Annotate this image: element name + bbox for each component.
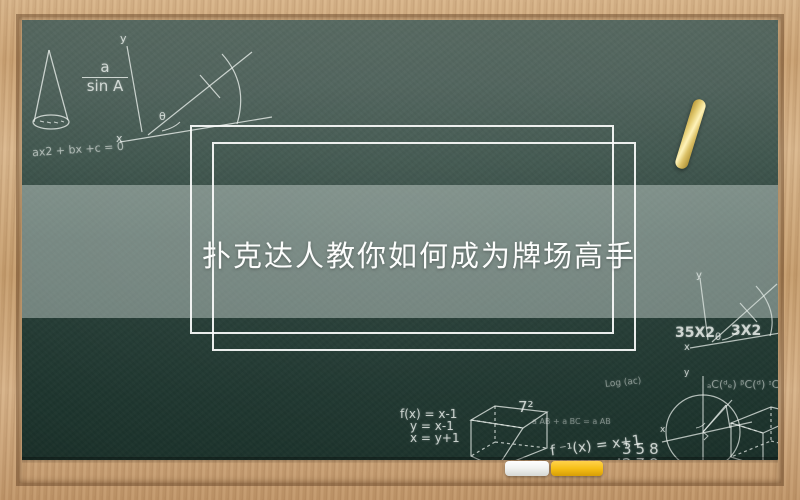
inverse-function-equation: f ⁻¹(x) = x+1 <box>549 433 641 460</box>
label-35x2: 35X2 <box>675 325 715 341</box>
axis-label-x-right: x <box>684 342 690 353</box>
axis-label-x-topleft: x <box>116 132 123 145</box>
addition-addend-1: 358 <box>622 440 663 458</box>
axis-label-y-topleft: y <box>120 32 127 45</box>
chalk-tray <box>22 457 778 463</box>
angle-label-topleft: θ <box>159 110 166 123</box>
function-line-2: y = x-1 <box>410 419 454 433</box>
wooden-frame: a sin A y x θ ax2 + bx +c = 0 <box>0 0 800 500</box>
tray-chalk-white <box>505 461 549 476</box>
power-7-squared: 7² <box>518 398 534 416</box>
cube-wireframe-right-icon <box>727 395 778 460</box>
chalk-stick-yellow <box>674 98 707 171</box>
axis-label-y-circle: y <box>684 368 689 378</box>
cone-outline-icon <box>30 42 120 142</box>
function-line-3: x = y+1 <box>410 431 460 445</box>
page-title: 扑克达人教你如何成为牌场高手 <box>22 233 778 275</box>
small-equation-bottomleft: a AB + a BC = a AB <box>532 417 611 426</box>
tray-chalk-yellow <box>551 461 603 476</box>
circle-with-axes-icon <box>660 370 760 460</box>
chalkboard: a sin A y x θ ax2 + bx +c = 0 <box>22 20 778 460</box>
log-ac-label: Log (ac) <box>605 376 642 390</box>
fraction-a-over-sina-topleft: a sin A <box>82 60 128 95</box>
combination-notes: ₐC(ᵈₑ) ᵝC(ᵈ) ᶦC(ᵈ) <box>707 378 778 391</box>
cube-wireframe-center-icon <box>467 402 552 460</box>
label-3x2: 3X2 <box>731 323 761 339</box>
angle-label-right: θ <box>715 332 721 343</box>
axis-label-x-circle: x <box>660 425 665 435</box>
function-line-1: f(x) = x-1 <box>400 407 457 421</box>
quadratic-equation-topleft: ax2 + bx +c = 0 <box>32 140 125 159</box>
